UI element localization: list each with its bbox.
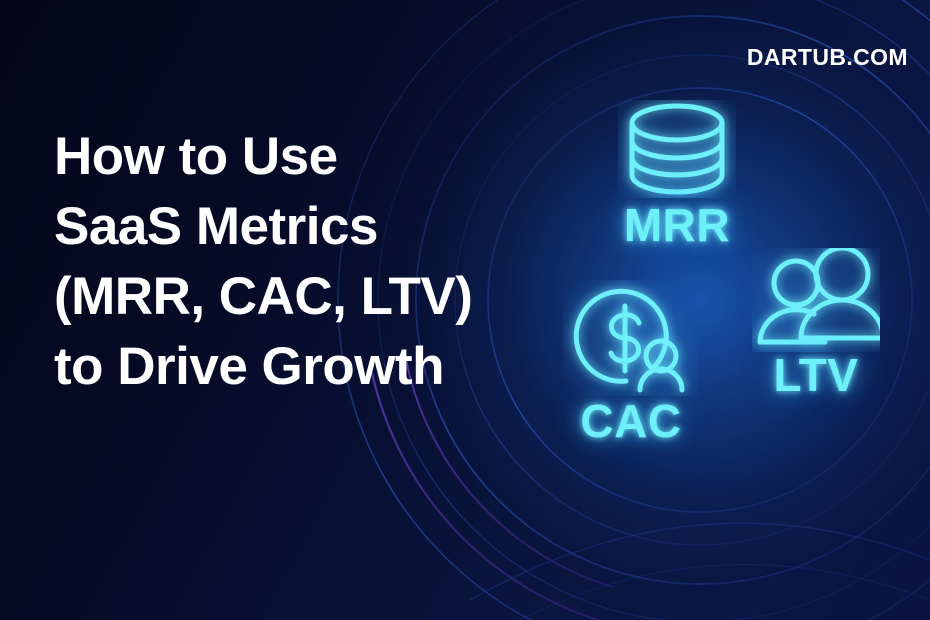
two-people-group-icon xyxy=(752,248,880,352)
page-title: How to Use SaaS Metrics (MRR, CAC, LTV) … xyxy=(54,122,524,402)
title-line-4: to Drive Growth xyxy=(54,332,524,402)
database-stack-icon xyxy=(618,100,736,198)
metric-ltv-label: LTV xyxy=(774,352,859,398)
title-line-3: (MRR, CAC, LTV) xyxy=(54,262,524,332)
metric-ltv: LTV xyxy=(752,248,880,398)
site-watermark: DARTUB.COM xyxy=(747,44,908,71)
metric-mrr-label: MRR xyxy=(624,202,730,248)
title-line-2: SaaS Metrics xyxy=(54,192,524,262)
dollar-circle-person-icon xyxy=(563,280,699,396)
title-line-1: How to Use xyxy=(54,122,524,192)
banner-canvas: DARTUB.COM How to Use SaaS Metrics (MRR,… xyxy=(0,0,930,620)
metric-cac: CAC xyxy=(563,280,699,444)
metric-mrr: MRR xyxy=(618,100,736,248)
metric-cac-label: CAC xyxy=(580,398,681,444)
